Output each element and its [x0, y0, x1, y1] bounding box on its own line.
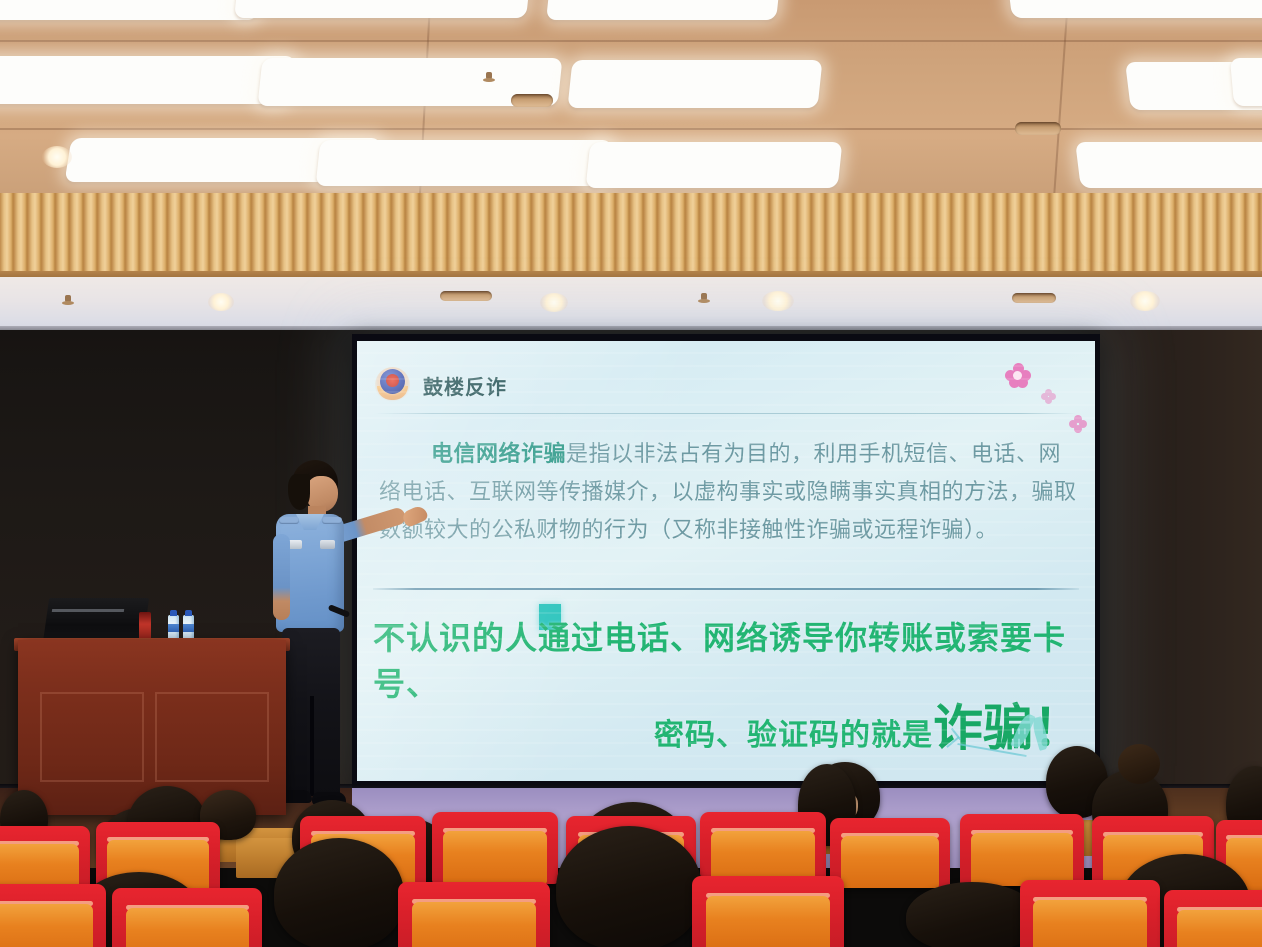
- auditorium-seat: [1164, 890, 1262, 947]
- speaker-chest-badge: [320, 540, 335, 549]
- auditorium-seat: [830, 818, 950, 888]
- ceiling-light-panel: [1230, 58, 1262, 106]
- slide-brand-title: 鼓楼反诈: [423, 371, 507, 400]
- recessed-downlight: [208, 293, 234, 311]
- projection-screen: 鼓楼反诈 电信网络诈骗是指以非法占有为目的，利用手机短信、电话、网络电话、互联网…: [357, 341, 1095, 781]
- podium-panel: [155, 692, 269, 782]
- ceiling-light-panel: [567, 60, 822, 108]
- auditorium-seat: [960, 814, 1084, 886]
- ceiling-light-panel: [234, 0, 530, 18]
- ceiling-light-panel: [586, 142, 843, 188]
- ceiling-vent: [1012, 293, 1056, 303]
- slide-slogan-line2: 密码、验证码的就是诈骗！: [373, 688, 1083, 760]
- speaker-epaulette-right: [322, 517, 342, 524]
- paragraph-highlight: 电信网络诈骗: [431, 441, 566, 466]
- auditorium-seat: [692, 876, 844, 947]
- auditorium-seat: [700, 812, 826, 884]
- recessed-downlight: [1130, 291, 1160, 311]
- ceiling-light-panel: [0, 56, 296, 104]
- recessed-downlight: [42, 146, 72, 168]
- speaker-hair-front: [288, 474, 310, 510]
- flower-decoration: [1005, 363, 1031, 389]
- auditorium-seat: [112, 888, 262, 947]
- auditorium-seat: [432, 812, 558, 884]
- flower-decoration: [1069, 415, 1087, 433]
- audience-head: [556, 826, 702, 947]
- auditorium-seat: [0, 884, 106, 947]
- monitor-sheen: [52, 609, 124, 612]
- ceiling: [0, 0, 1262, 196]
- ceiling-vent: [1015, 122, 1061, 135]
- flower-decoration: [1041, 389, 1055, 403]
- ceiling-light-panel: [1075, 142, 1262, 188]
- auditorium-seat: [1020, 880, 1160, 947]
- slide-divider: [373, 588, 1079, 590]
- speaker-police-officer: [270, 460, 390, 810]
- slogan-small-text: 密码、验证码的就是: [654, 719, 933, 752]
- police-badge-icon: [375, 367, 410, 403]
- sprinkler-icon: [483, 72, 495, 88]
- slide-paragraph: 电信网络诈骗是指以非法占有为目的，利用手机短信、电话、网络电话、互联网等传播媒介…: [379, 435, 1079, 549]
- sprinkler-icon: [698, 293, 710, 309]
- ceiling-light-panel: [546, 0, 780, 20]
- ceiling-light-panel: [0, 0, 263, 20]
- header-rule: [375, 413, 1077, 414]
- ceiling-light-panel: [1008, 0, 1262, 18]
- ceiling-light-panel: [316, 140, 613, 186]
- audience-head: [274, 838, 404, 947]
- speaker-epaulette-left: [279, 517, 299, 524]
- sprinkler-icon: [62, 295, 74, 311]
- audience-head: [906, 882, 1038, 947]
- recessed-downlight: [540, 293, 568, 312]
- speaker-resting-arm: [273, 534, 290, 620]
- speaker-leg-split: [310, 696, 314, 796]
- audience-hair-bun: [1118, 744, 1160, 784]
- recessed-downlight: [762, 291, 794, 311]
- auditorium-scene: 鼓楼反诈 电信网络诈骗是指以非法占有为目的，利用手机短信、电话、网络电话、互联网…: [0, 0, 1262, 947]
- ceiling-vent: [440, 291, 492, 301]
- slide-header: 鼓楼反诈: [375, 367, 507, 403]
- podium-monitor: [43, 598, 149, 643]
- slogan-big-text: 诈骗！: [933, 700, 1083, 756]
- auditorium-seat: [398, 882, 550, 947]
- podium-panel: [40, 692, 144, 782]
- wood-slat-wall: [0, 193, 1262, 277]
- ceiling-vent: [511, 94, 553, 107]
- presentation-slide: 鼓楼反诈 电信网络诈骗是指以非法占有为目的，利用手机短信、电话、网络电话、互联网…: [357, 341, 1095, 781]
